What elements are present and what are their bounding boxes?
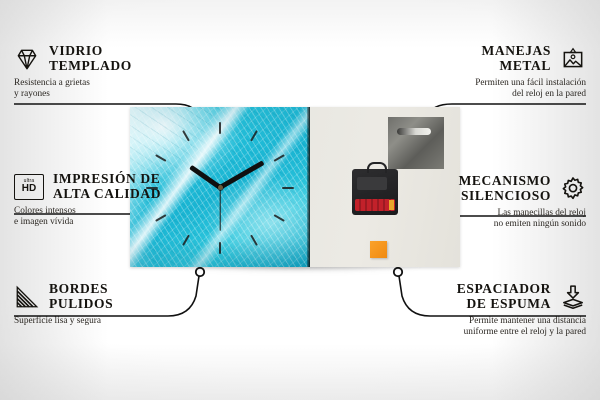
clock-mechanism: [352, 169, 398, 215]
clock-second-hand: [219, 187, 220, 231]
mechanism-shaft: [367, 162, 387, 173]
feature-title: ESPACIADOR DE ESPUMA: [457, 282, 551, 311]
ultra-hd-icon: ultra HD: [14, 174, 44, 200]
hanger-slot: [397, 128, 431, 135]
feature-description: Permite mantener una distancia uniforme …: [414, 316, 586, 339]
feature-vidrio-templado: VIDRIO TEMPLADO Resistencia a grietas y …: [14, 44, 186, 101]
infographic-canvas: VIDRIO TEMPLADO Resistencia a grietas y …: [0, 0, 600, 400]
gear-icon: [560, 176, 586, 202]
feature-title: BORDES PULIDOS: [49, 282, 113, 311]
ultra-hd-icon-main-text: HD: [22, 184, 36, 194]
feature-title: MECANISMO SILENCIOSO: [459, 174, 551, 203]
feature-manejas-metal: MANEJAS METAL Permiten una fácil instala…: [420, 44, 586, 101]
metal-hanger-plate: [388, 117, 444, 169]
battery: [355, 199, 395, 211]
feature-espaciador-espuma: ESPACIADOR DE ESPUMA Permite mantener un…: [414, 282, 586, 339]
polished-edges-icon: [14, 284, 40, 310]
foam-spacer: [370, 241, 387, 258]
battery-cap: [389, 200, 394, 210]
clock-tick: [282, 187, 294, 189]
feature-bordes-pulidos: BORDES PULIDOS Superficie lisa y segura: [14, 282, 186, 327]
feature-description: Resistencia a grietas y rayones: [14, 78, 186, 101]
hanging-frame-icon: [560, 46, 586, 72]
feature-description: Las manecillas del reloj no emiten ningú…: [414, 208, 586, 231]
clock-center-hub: [218, 185, 223, 190]
feature-description: Colores intensos e imagen vívida: [14, 206, 190, 229]
foam-spacer-icon: [560, 284, 586, 310]
feature-impresion-alta-calidad: ultra HD IMPRESIÓN DE ALTA CALIDAD Color…: [14, 172, 190, 229]
clock-tick: [219, 242, 221, 254]
feature-title: IMPRESIÓN DE ALTA CALIDAD: [53, 172, 161, 201]
feature-description: Superficie lisa y segura: [14, 316, 186, 327]
feature-title: VIDRIO TEMPLADO: [49, 44, 132, 73]
feature-title: MANEJAS METAL: [482, 44, 551, 73]
feature-description: Permiten una fácil instalación del reloj…: [420, 78, 586, 101]
feature-mecanismo-silencioso: MECANISMO SILENCIOSO Las manecillas del …: [414, 174, 586, 231]
diamond-icon: [14, 46, 40, 72]
mechanism-body: [357, 177, 387, 190]
clock-tick: [219, 122, 221, 134]
